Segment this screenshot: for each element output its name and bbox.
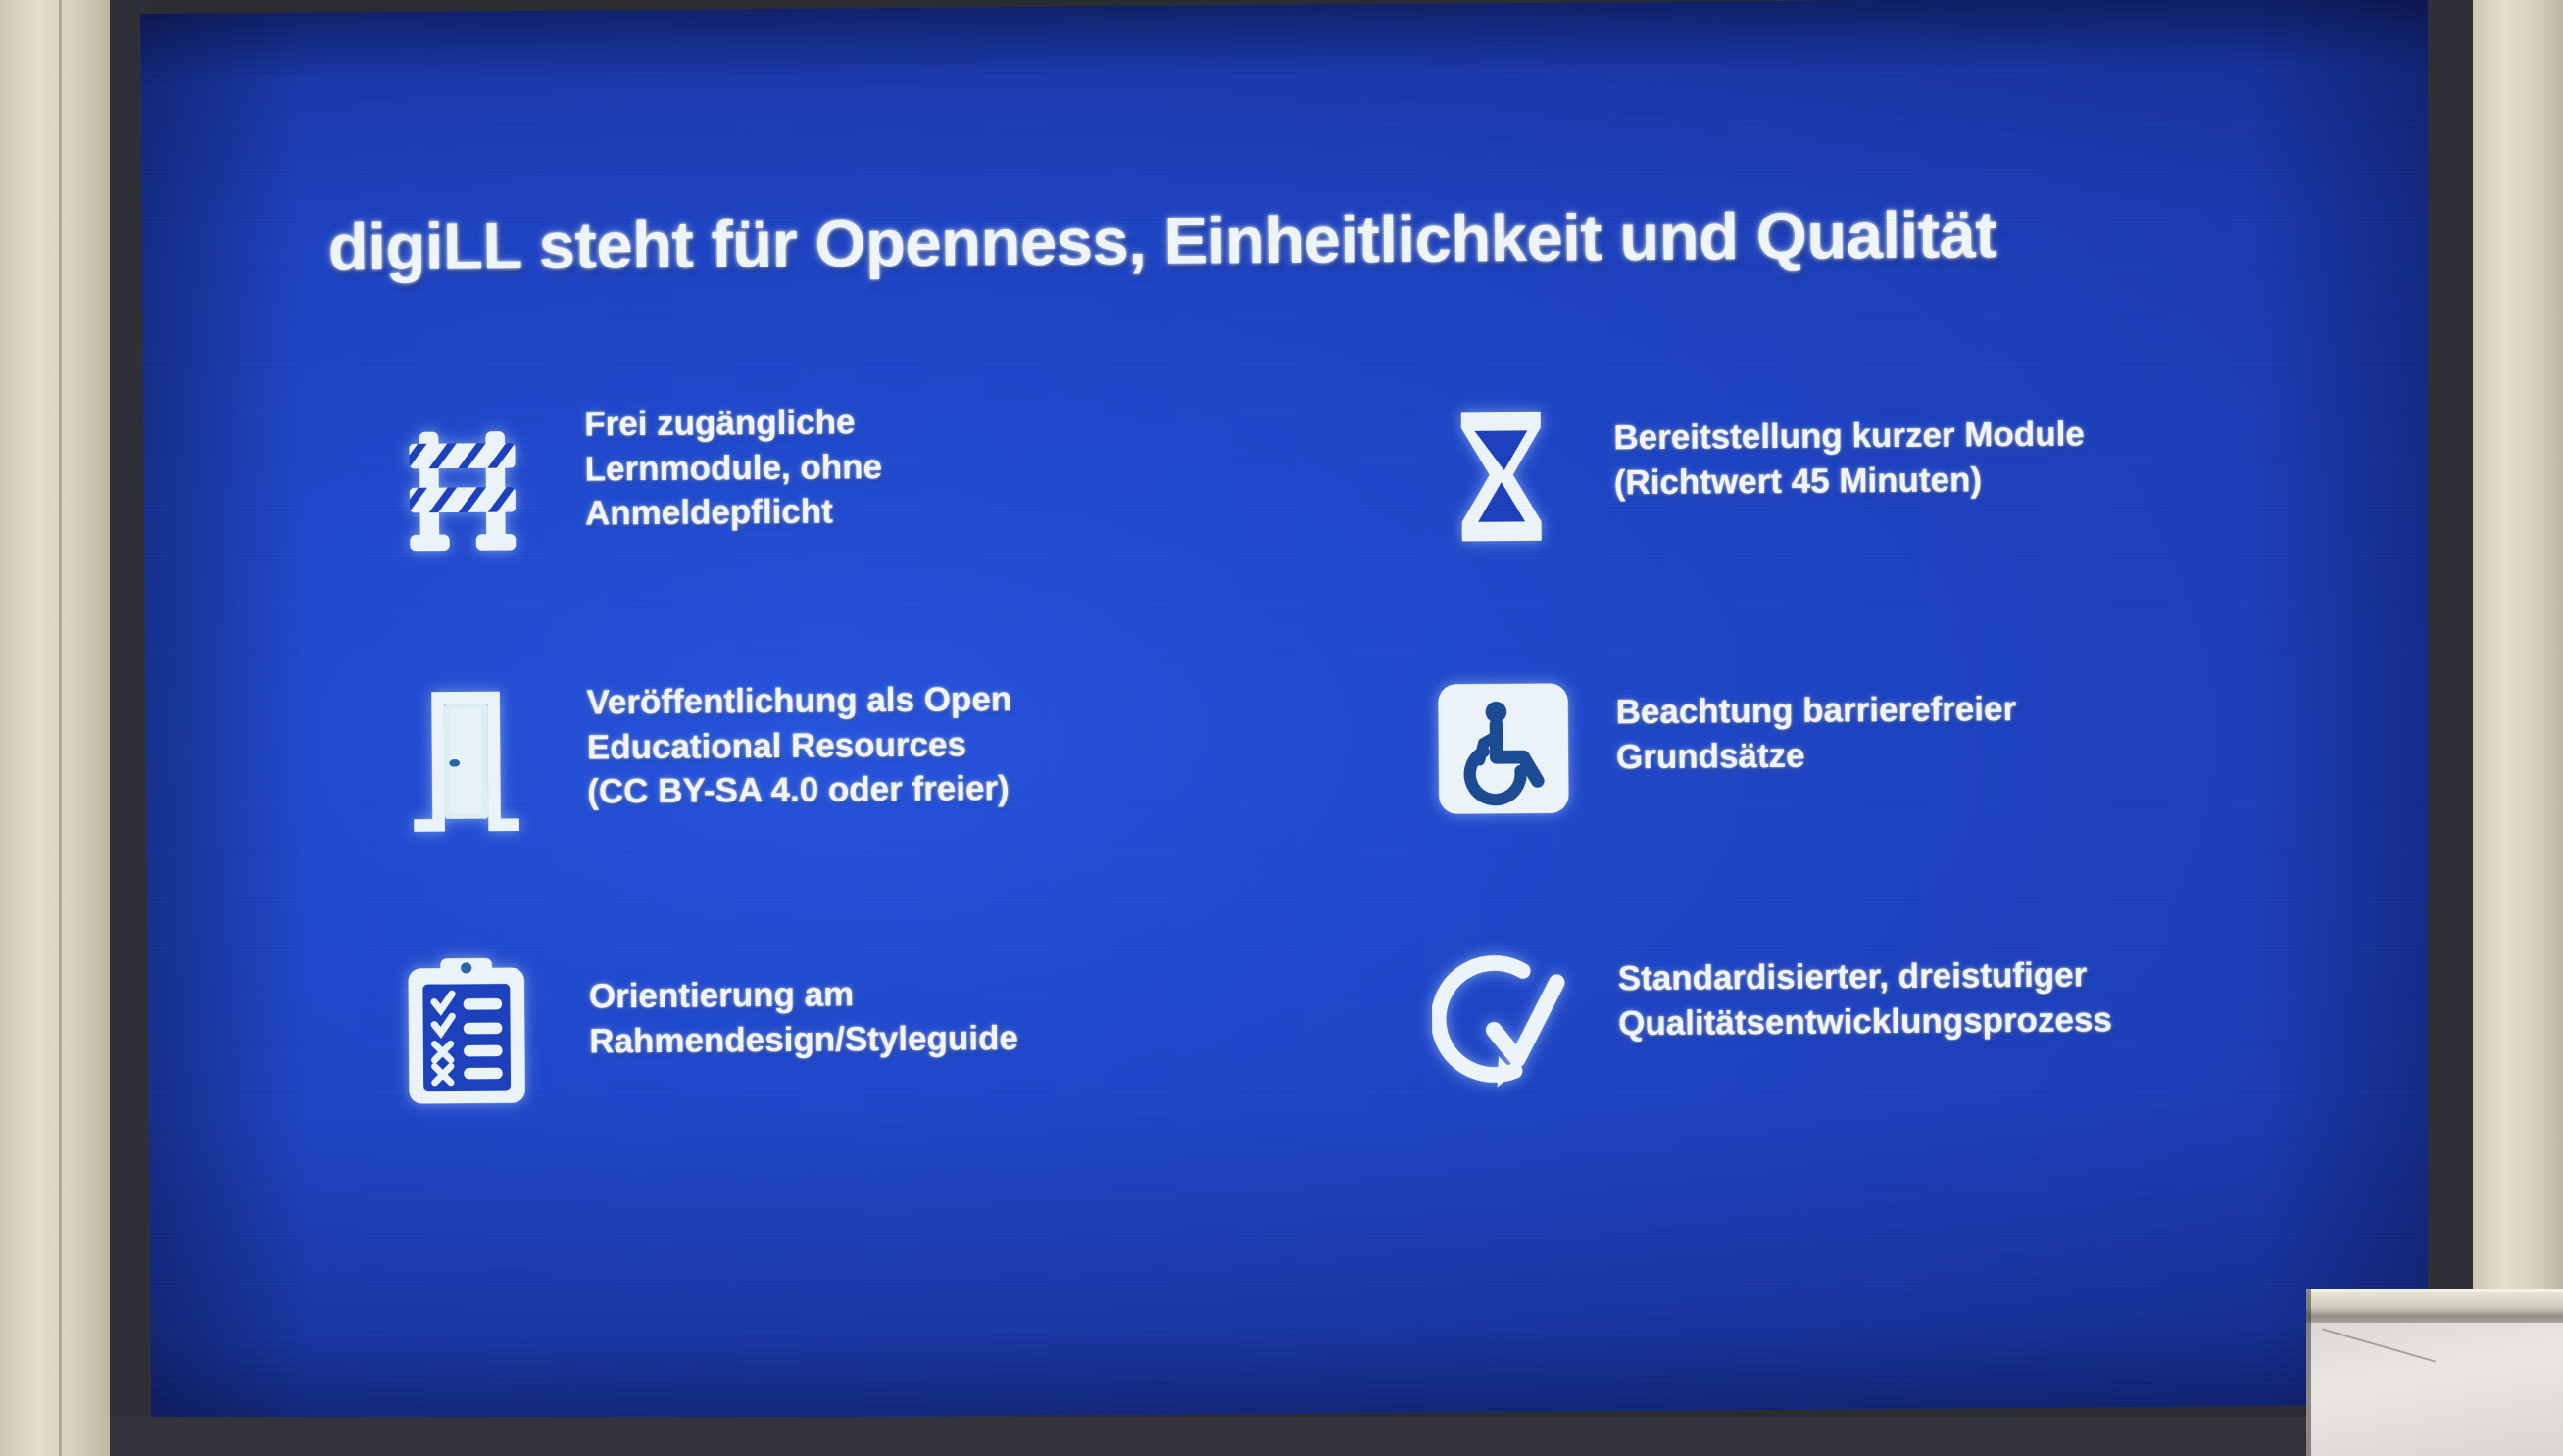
list-item-line: (CC BY-SA 4.0 oder freier) <box>587 766 1012 814</box>
list-item: Standardisierter, dreistufiger Qualitäts… <box>1392 932 2305 1193</box>
hourglass-icon <box>1388 392 1614 560</box>
list-item-line: Standardisierter, dreistufiger <box>1618 952 2112 1000</box>
screen-bezel-right <box>2428 0 2473 1456</box>
list-item-line: Veröffentlichung als Open <box>586 677 1011 725</box>
projection-screen: digiLL steht für Openness, Einheitlichke… <box>140 0 2442 1423</box>
open-door-icon <box>341 672 587 841</box>
page-title: digiLL steht für Openness, Einheitlichke… <box>328 197 1997 285</box>
list-item-line: Frei zugängliche <box>584 400 882 447</box>
clipboard-checklist-icon <box>343 945 589 1113</box>
list-item: Frei zugängliche Lernmodule, ohne Anmeld… <box>339 394 1390 674</box>
list-item-text: Orientierung am Rahmendesign/Styleguide <box>588 942 1018 1063</box>
list-item-line: (Richtwert 45 Minuten) <box>1614 457 2086 505</box>
presentation-slide: digiLL steht für Openness, Einheitlichke… <box>140 0 2442 1423</box>
flipchart-rail <box>2306 1289 2563 1326</box>
wall-strip-left <box>0 0 110 1456</box>
list-item-text: Bereitstellung kurzer Module (Richtwert … <box>1613 388 2085 505</box>
list-item-text: Frei zugängliche Lernmodule, ohne Anmeld… <box>584 398 882 536</box>
list-item-text: Veröffentlichung als Open Educational Re… <box>586 669 1012 814</box>
list-item: Bereitstellung kurzer Module (Richtwert … <box>1388 387 2301 666</box>
list-item-text: Standardisierter, dreistufiger Qualitäts… <box>1617 933 2112 1045</box>
room-photo-scene: digiLL steht für Openness, Einheitlichke… <box>0 0 2563 1456</box>
flipchart-paper <box>2306 1323 2563 1456</box>
list-item-line: Rahmendesign/Styleguide <box>589 1015 1018 1063</box>
list-item: Veröffentlichung als Open Educational Re… <box>341 666 1392 946</box>
list-item-line: Qualitätsentwicklungsprozess <box>1618 997 2112 1045</box>
feature-grid: Frei zugängliche Lernmodule, ohne Anmeld… <box>339 387 2305 1202</box>
flipchart-edge <box>2306 1289 2311 1456</box>
list-item-line: Educational Resources <box>587 722 1012 770</box>
wall-strip-right <box>2473 0 2563 1456</box>
wheelchair-accessibility-icon <box>1390 664 1616 833</box>
list-item-line: Bereitstellung kurzer Module <box>1613 412 2085 460</box>
list-item-text: Beachtung barrierefreier Grundsätze <box>1615 661 2016 779</box>
list-item: Beachtung barrierefreier Grundsätze <box>1390 659 2303 939</box>
list-item-line: Orientierung am <box>589 971 1018 1019</box>
flipchart-easel <box>2306 1289 2563 1456</box>
screen-bezel-bottom <box>110 1417 2473 1456</box>
list-item-line: Lernmodule, ohne <box>584 445 882 492</box>
barrier-icon <box>339 400 585 568</box>
list-item: Orientierung am Rahmendesign/Styleguide <box>343 939 1394 1201</box>
list-item-line: Anmeldepflicht <box>585 489 883 536</box>
list-item-line: Grundsätze <box>1616 731 2017 779</box>
list-item-line: Beachtung barrierefreier <box>1615 687 2016 735</box>
refresh-check-icon <box>1392 937 1618 1105</box>
